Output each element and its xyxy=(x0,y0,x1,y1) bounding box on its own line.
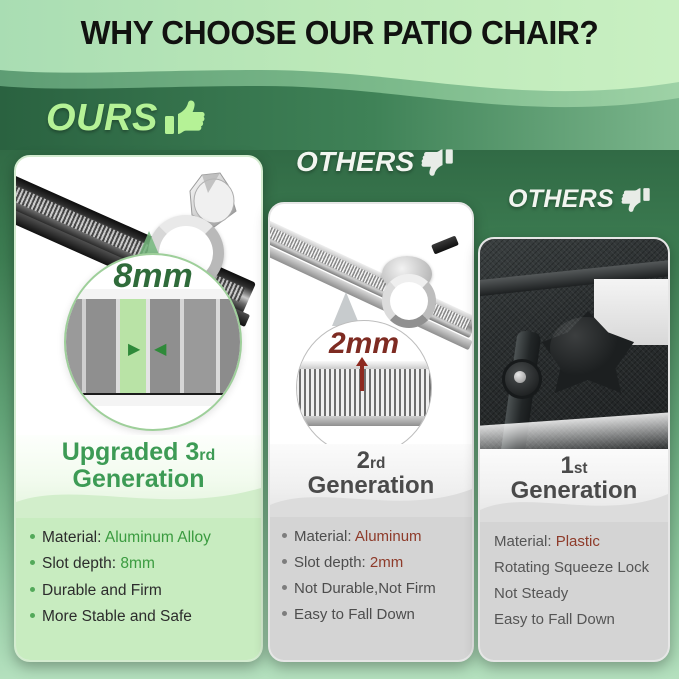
infographic-canvas: WHY CHOOSE OUR PATIO CHAIR? OURS OTHERS … xyxy=(0,0,679,679)
list-item: Not Durable,Not Firm xyxy=(270,575,472,601)
bullet-icon xyxy=(282,585,287,590)
bullet-icon xyxy=(30,587,35,592)
list-item: More Stable and Safe xyxy=(16,604,261,631)
heading-others-2nd: OTHERS xyxy=(296,146,453,178)
list-item: Material: Aluminum xyxy=(270,523,472,549)
generation-ordinal-ours: rd xyxy=(199,447,215,464)
bullet-icon xyxy=(30,613,35,618)
comparison-card-others-1st[interactable]: 1st Generation Material: Plastic Rotatin… xyxy=(478,237,670,662)
feature-text: Slot depth: 8mm xyxy=(42,556,155,572)
magnifier-lens-others-2nd: 2mm xyxy=(296,320,432,444)
generation-prefix-ours: Upgraded xyxy=(62,438,186,466)
generation-word-others-1st: Generation xyxy=(511,477,638,504)
measure-arrow-left-icon: ▶ xyxy=(128,339,140,359)
feature-label: Not Steady xyxy=(494,586,568,601)
list-item: Easy to Fall Down xyxy=(480,606,668,632)
measure-arrow-up-icon xyxy=(360,365,364,391)
lens-rail-edge-bottom xyxy=(296,416,432,426)
list-item: Not Steady xyxy=(480,580,668,606)
feature-label: Easy to Fall Down xyxy=(294,607,415,622)
measure-arrow-right-icon: ▶ xyxy=(154,339,166,359)
magnifier-lens-ours: 8mm ▶ ▶ xyxy=(64,253,242,431)
generation-title-others-2nd: 2rd Generation xyxy=(270,444,472,499)
knob-highlight xyxy=(550,317,622,379)
page-title: WHY CHOOSE OUR PATIO CHAIR? xyxy=(14,14,666,52)
feature-value: Aluminum Alloy xyxy=(105,529,211,546)
list-item: Rotating Squeeze Lock xyxy=(480,554,668,580)
feature-label: Material: xyxy=(494,533,556,550)
feature-value: 8mm xyxy=(120,555,154,572)
list-item: Slot depth: 2mm xyxy=(270,549,472,575)
feature-text: Material: Plastic xyxy=(494,534,600,549)
heading-ours-label: OURS xyxy=(46,97,158,140)
feature-label: Not Durable,Not Firm xyxy=(294,581,436,596)
lens-slat-body xyxy=(64,299,242,393)
feature-value: 2mm xyxy=(370,554,403,571)
list-item: Material: Aluminum Alloy xyxy=(16,524,261,551)
generation-banner-others-2nd: 2rd Generation xyxy=(270,444,472,516)
comparison-card-ours[interactable]: 8mm ▶ ▶ Upgraded 3rd Generation Material… xyxy=(14,155,263,662)
bullet-icon xyxy=(282,559,287,564)
feature-text: Material: Aluminum Alloy xyxy=(42,530,211,546)
feature-label: Rotating Squeeze Lock xyxy=(494,560,649,575)
generation-ordinal-others-2nd: rd xyxy=(370,455,385,472)
list-item: Durable and Firm xyxy=(16,577,261,604)
bullet-icon xyxy=(282,611,287,616)
lens-slat-edge-bottom xyxy=(64,393,242,406)
feature-list-others-2nd: Material: Aluminum Slot depth: 2mm Not D… xyxy=(270,516,472,660)
feature-label: Slot depth: xyxy=(42,555,120,572)
feature-text: Slot depth: 2mm xyxy=(294,555,403,570)
generation-ordinal-others-1st: st xyxy=(574,460,588,477)
measurement-label-others-2nd: 2mm xyxy=(297,327,431,361)
feature-value: Plastic xyxy=(556,533,600,550)
measurement-label-ours: 8mm xyxy=(66,257,240,296)
feature-label: Material: xyxy=(42,529,105,546)
bullet-icon xyxy=(30,534,35,539)
list-item: Easy to Fall Down xyxy=(270,601,472,627)
product-photo-ours: 8mm ▶ ▶ xyxy=(16,157,261,435)
generation-banner-others-1st: 1st Generation xyxy=(480,449,668,521)
feature-value: Aluminum xyxy=(355,528,422,545)
feature-list-others-1st: Material: Plastic Rotating Squeeze Lock … xyxy=(480,521,668,660)
generation-number-ours: 3 xyxy=(185,438,199,466)
generation-word-others-2nd: Generation xyxy=(308,472,435,499)
bullet-icon xyxy=(282,533,287,538)
thumbs-up-icon xyxy=(165,100,205,138)
product-photo-others-2nd: 2mm xyxy=(270,204,472,444)
feature-text: Material: Aluminum xyxy=(294,529,422,544)
metal-ring-illustration xyxy=(382,274,436,328)
feature-list-ours: Material: Aluminum Alloy Slot depth: 8mm… xyxy=(16,517,261,660)
generation-number-others-2nd: 2 xyxy=(357,447,370,474)
generation-banner-ours: Upgraded 3rd Generation xyxy=(16,435,261,517)
product-photo-others-1st xyxy=(480,239,668,449)
feature-label: Easy to Fall Down xyxy=(494,612,615,627)
thumbs-down-icon xyxy=(621,186,650,213)
heading-others-2nd-label: OTHERS xyxy=(296,146,414,178)
bullet-icon xyxy=(30,560,35,565)
plastic-knob-photo xyxy=(480,239,668,449)
generation-word-ours: Generation xyxy=(73,465,205,493)
generation-title-ours: Upgraded 3rd Generation xyxy=(16,435,261,492)
feature-label: Material: xyxy=(294,528,355,545)
feature-label: More Stable and Safe xyxy=(42,609,192,625)
lens-rail-teeth xyxy=(296,369,432,417)
list-item: Slot depth: 8mm xyxy=(16,551,261,578)
feature-label: Slot depth: xyxy=(294,554,370,571)
list-item: Material: Plastic xyxy=(480,528,668,554)
bolt-icon xyxy=(502,359,542,399)
feature-label: Durable and Firm xyxy=(42,583,162,599)
thumbs-down-icon xyxy=(421,147,453,177)
generation-title-others-1st: 1st Generation xyxy=(480,449,668,504)
generation-number-others-1st: 1 xyxy=(560,452,573,479)
heading-others-1st-label: OTHERS xyxy=(508,185,614,214)
heading-ours: OURS xyxy=(46,97,205,140)
rail-teeth xyxy=(270,214,471,330)
heading-others-1st: OTHERS xyxy=(508,185,650,214)
comparison-card-others-2nd[interactable]: 2mm 2rd Generation Material: Aluminum Sl… xyxy=(268,202,474,662)
screw-illustration xyxy=(431,235,459,254)
